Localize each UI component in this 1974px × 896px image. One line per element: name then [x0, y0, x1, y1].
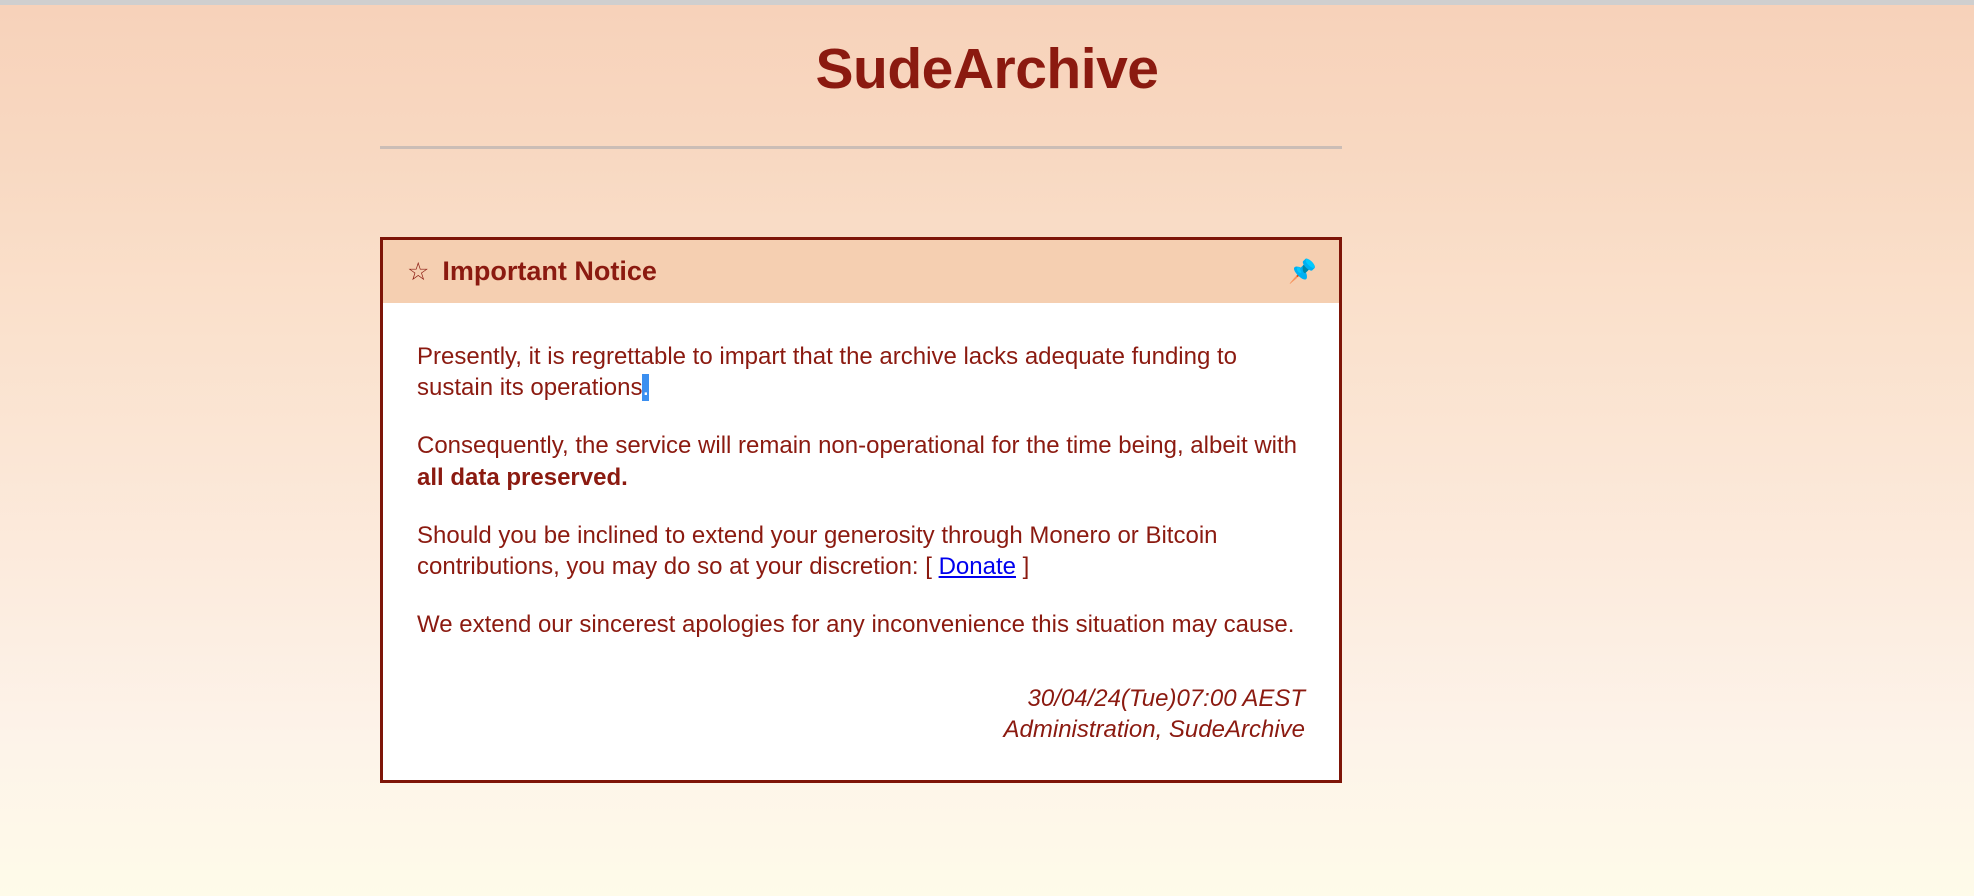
notice-paragraph-4: We extend our sincerest apologies for an…	[417, 609, 1305, 640]
title-divider	[380, 146, 1342, 149]
notice-paragraph-3: Should you be inclined to extend your ge…	[417, 520, 1305, 582]
donate-link[interactable]: Donate	[939, 553, 1016, 580]
notice-header: ☆ Important Notice 📌	[383, 240, 1339, 303]
selected-text-highlight[interactable]: .	[642, 374, 649, 401]
notice-paragraph-3-tail: ]	[1016, 553, 1029, 580]
notice-paragraph-2-emphasis: all data preserved.	[417, 464, 628, 491]
notice-signature: 30/04/24(Tue)07:00 AEST Administration, …	[417, 684, 1305, 745]
notice-body: Presently, it is regrettable to impart t…	[383, 303, 1339, 780]
notice-header-title: Important Notice	[442, 258, 657, 285]
notice-paragraph-2-text: Consequently, the service will remain no…	[417, 432, 1297, 459]
signature-timestamp: 30/04/24(Tue)07:00 AEST	[417, 684, 1305, 715]
pushpin-icon: 📌	[1288, 260, 1317, 283]
site-title: SudeArchive	[380, 5, 1594, 98]
signature-author: Administration, SudeArchive	[417, 715, 1305, 746]
notice-paragraph-1: Presently, it is regrettable to impart t…	[417, 341, 1305, 403]
notice-paragraph-3-text: Should you be inclined to extend your ge…	[417, 522, 1218, 580]
notice-paragraph-2: Consequently, the service will remain no…	[417, 430, 1305, 492]
page-background: SudeArchive ☆ Important Notice 📌 Present…	[0, 5, 1974, 896]
page-content: SudeArchive ☆ Important Notice 📌 Present…	[380, 5, 1594, 783]
important-notice-card: ☆ Important Notice 📌 Presently, it is re…	[380, 237, 1342, 783]
star-icon: ☆	[407, 260, 429, 285]
notice-header-left: ☆ Important Notice	[407, 258, 657, 285]
notice-paragraph-1-text: Presently, it is regrettable to impart t…	[417, 343, 1237, 401]
